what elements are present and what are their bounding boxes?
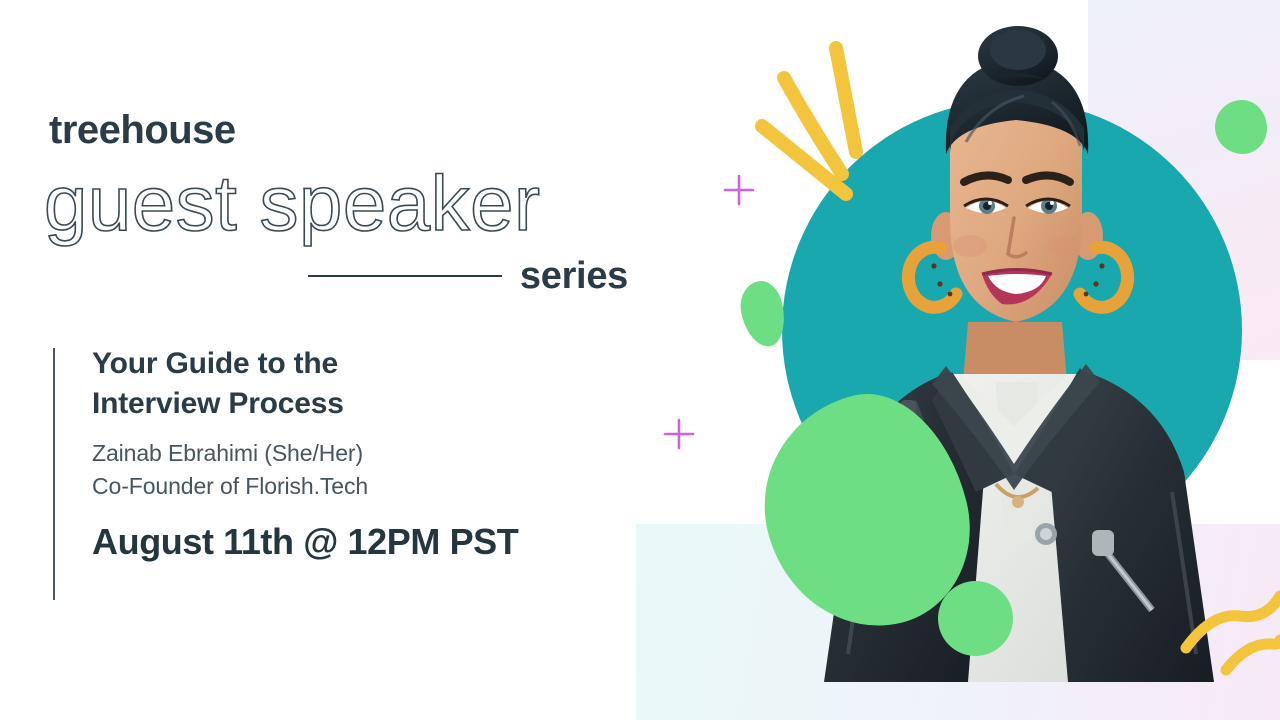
green-circle bbox=[938, 581, 1013, 656]
promo-graphic: treehouse guest speaker series Your Guid… bbox=[0, 0, 1280, 720]
series-divider-rule bbox=[308, 275, 502, 277]
session-accent-rule bbox=[53, 348, 55, 600]
speaker-name: Zainab Ebrahimi (She/Her) bbox=[92, 437, 518, 470]
brand-wordmark: treehouse bbox=[49, 108, 236, 153]
series-label: series bbox=[520, 255, 628, 298]
session-title-line-2: Interview Process bbox=[92, 387, 344, 420]
magenta-cross-2 bbox=[665, 420, 693, 448]
headline-guest-speaker: guest speaker bbox=[44, 158, 540, 249]
session-title-line-1: Your Guide to the bbox=[92, 347, 338, 380]
series-row: series bbox=[308, 252, 628, 300]
speaker-role: Co-Founder of Florish.Tech bbox=[92, 470, 518, 503]
session-details: Your Guide to the Interview Process Zain… bbox=[53, 348, 613, 600]
magenta-cross-group bbox=[665, 176, 753, 448]
magenta-cross-1 bbox=[725, 176, 753, 204]
session-date-time: August 11th @ 12PM PST bbox=[92, 521, 518, 563]
session-title: Your Guide to the Interview Process bbox=[92, 344, 518, 423]
